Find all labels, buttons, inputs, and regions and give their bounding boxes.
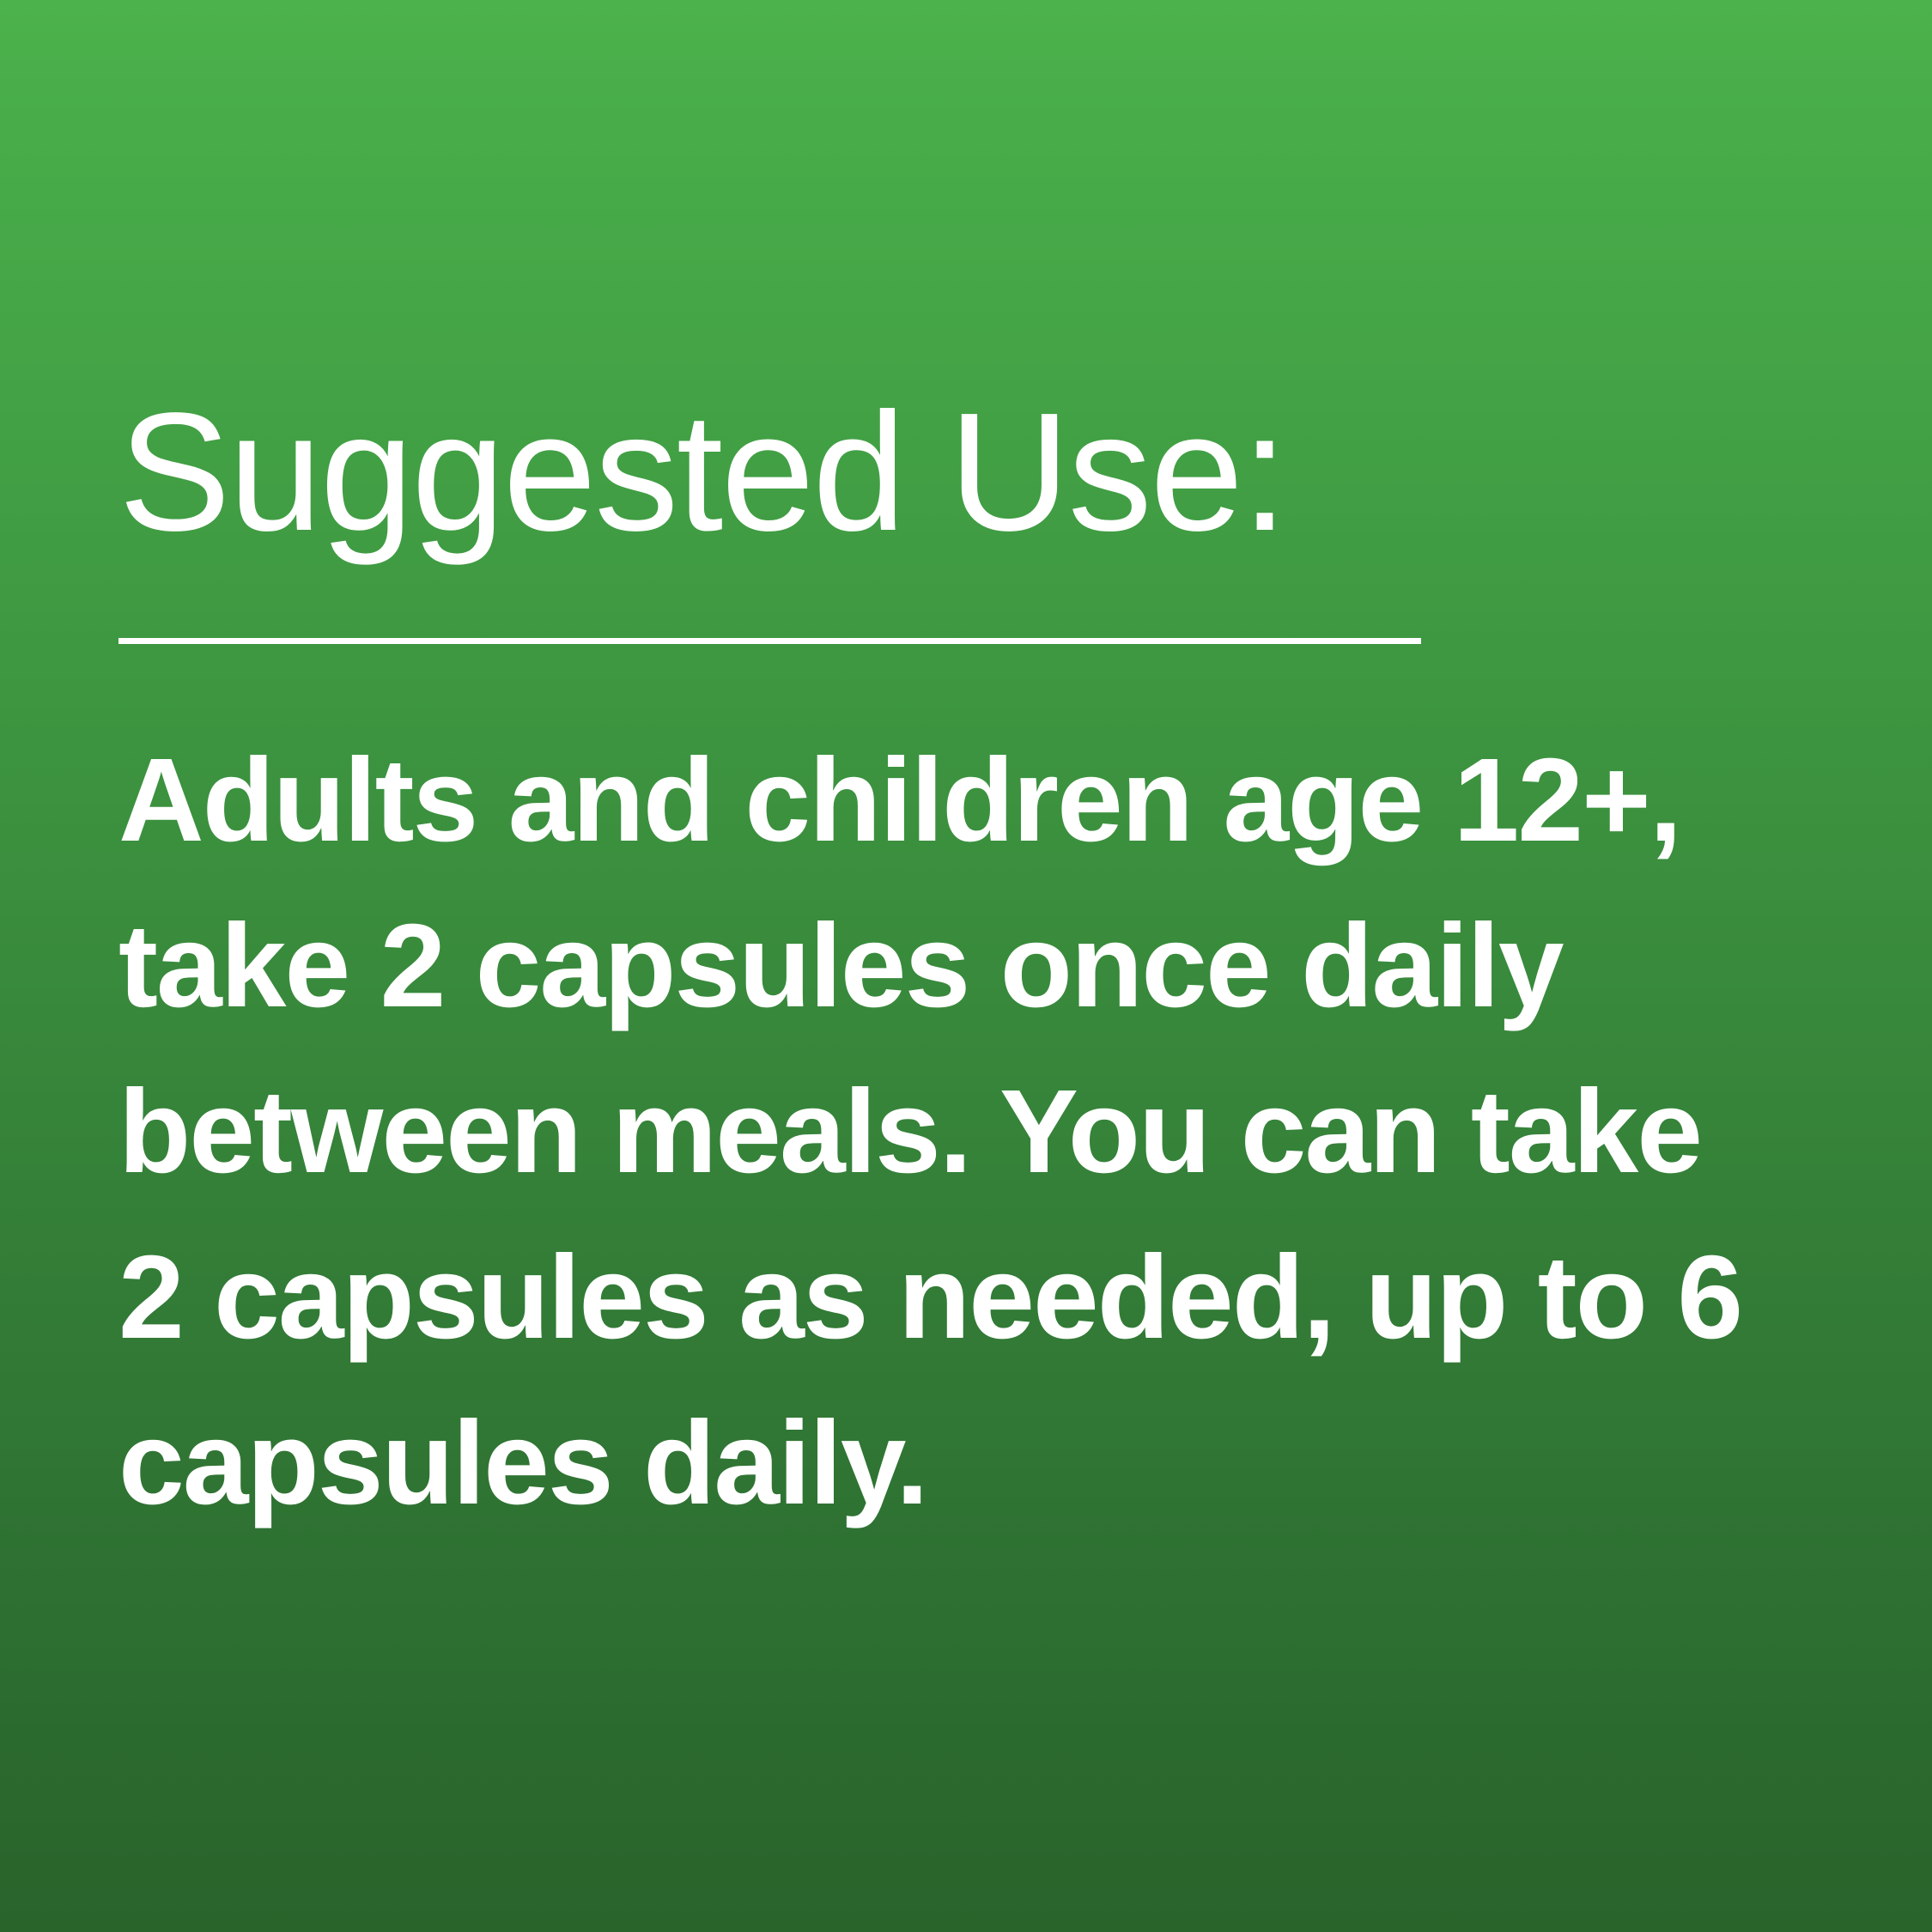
instruction-line: 2 capsules as needed, up to 6 <box>118 1215 1827 1381</box>
instruction-line: capsules daily. <box>118 1381 1827 1546</box>
instructions-block: Adults and children age 12+, take 2 caps… <box>118 718 1827 1546</box>
heading-block: Suggested Use: <box>118 388 1441 556</box>
content-frame: Suggested Use: Adults and children age 1… <box>118 0 1801 1932</box>
instruction-line: between meals. You can take <box>118 1049 1827 1215</box>
page-title: Suggested Use: <box>118 388 1441 556</box>
suggested-use-panel: Suggested Use: Adults and children age 1… <box>0 0 1932 1932</box>
instruction-line: Adults and children age 12+, <box>118 718 1827 884</box>
instruction-line: take 2 capsules once daily <box>118 884 1827 1049</box>
title-divider <box>118 638 1421 644</box>
